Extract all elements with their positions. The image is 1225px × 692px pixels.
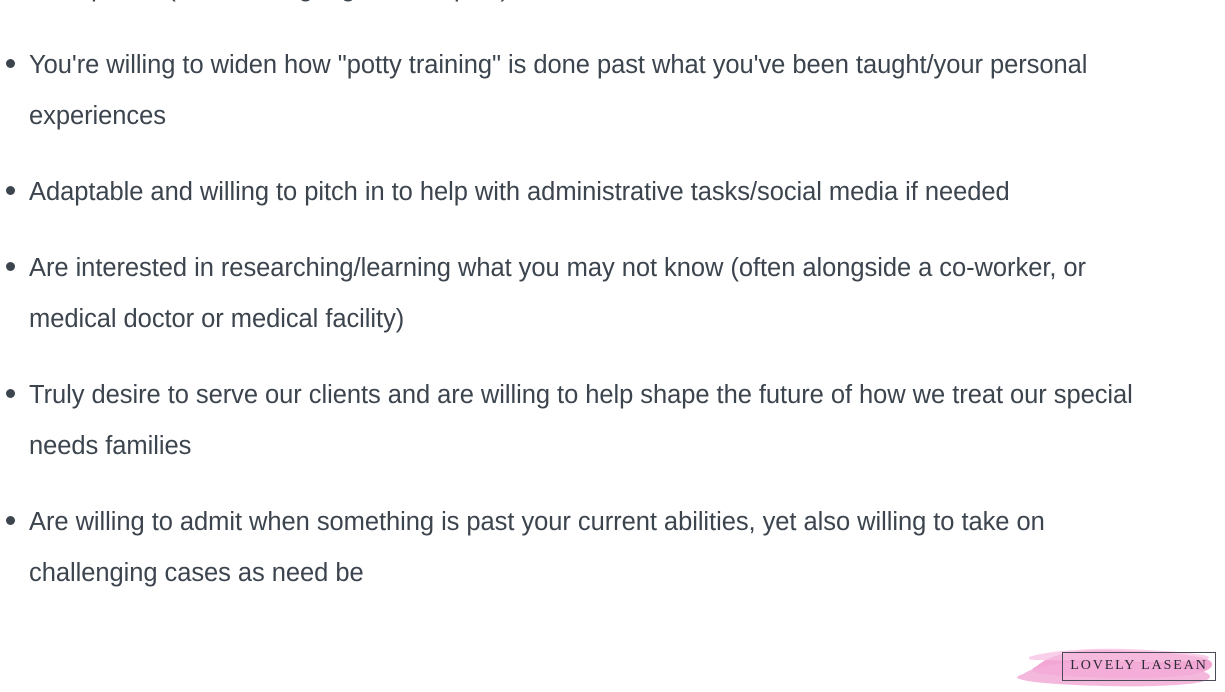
list-item: Are interested in researching/learning w… [0,243,1225,345]
bullet-point-icon [6,389,15,398]
list-item: Are willing to admit when something is p… [0,497,1225,599]
list-item-text: Adaptable and willing to pitch in to hel… [29,167,1144,218]
requirements-bullet-list: and spoken (second languages are a plus)… [0,0,1225,624]
list-item-text: You're willing to widen how "potty train… [29,40,1094,142]
bullet-point-icon [6,59,15,68]
list-item-text: Are willing to admit when something is p… [29,497,1091,599]
bullet-point-icon [6,516,15,525]
continuation-line: and spoken (second languages are a plus) [0,0,1225,14]
continuation-line-text: and spoken (second languages are a plus) [29,0,1137,14]
list-item: Truly desire to serve our clients and ar… [0,370,1225,472]
list-item-text: Are interested in researching/learning w… [29,243,1154,345]
list-item: Adaptable and willing to pitch in to hel… [0,167,1225,218]
list-item: You're willing to widen how "potty train… [0,40,1225,142]
logo-text: LOVELY LASEAN [1065,658,1213,674]
list-item-text: Truly desire to serve our clients and ar… [29,370,1151,472]
bullet-point-icon [6,186,15,195]
bullet-point-icon [6,262,15,271]
lovely-lasean-logo-watermark: LOVELY LASEAN [1007,644,1225,692]
slide-canvas: and spoken (second languages are a plus)… [0,0,1225,692]
